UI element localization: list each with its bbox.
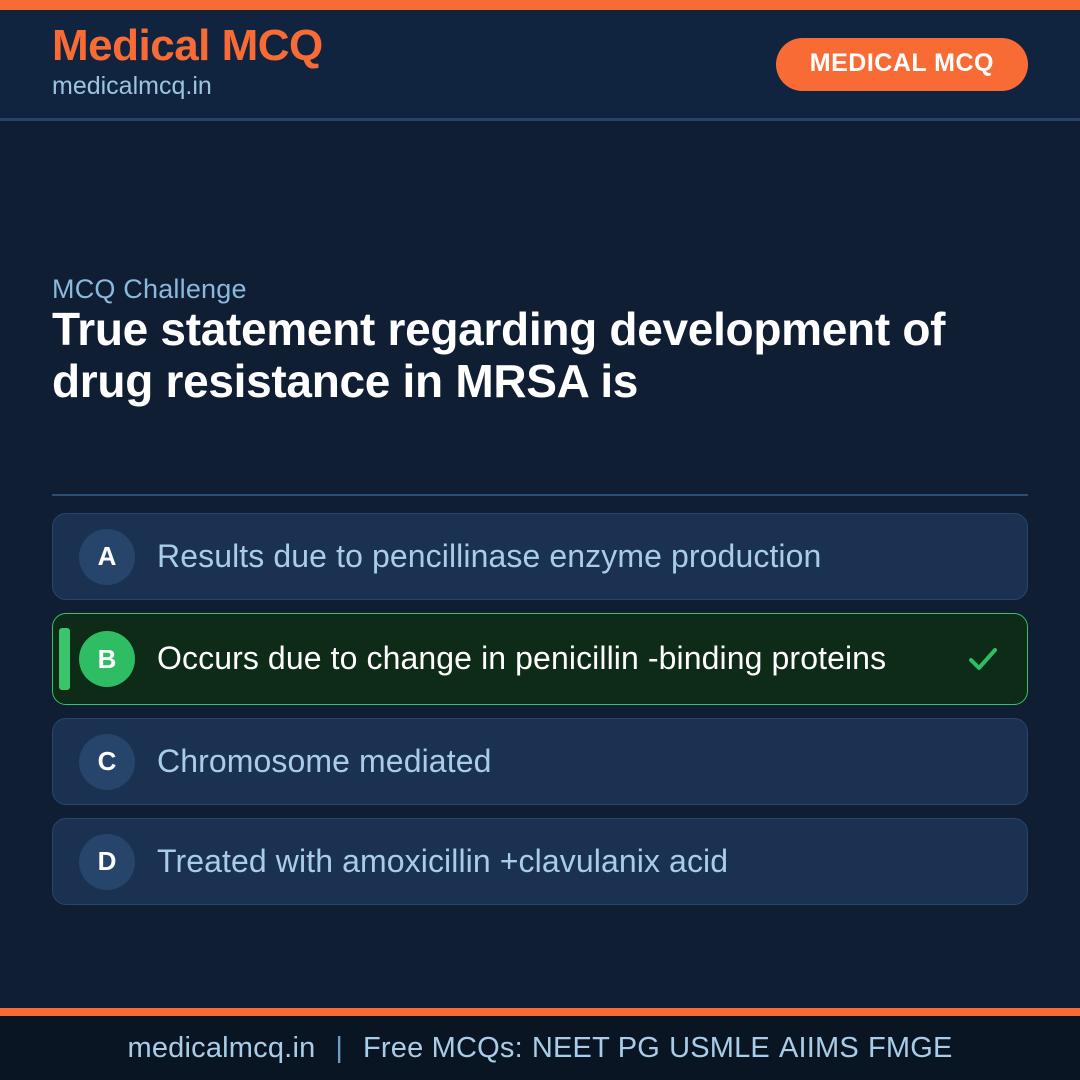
option-row-c[interactable]: C Chromosome mediated xyxy=(52,718,1028,805)
option-text: Treated with amoxicillin +clavulanix aci… xyxy=(157,843,728,880)
option-letter-badge: C xyxy=(79,734,135,790)
page-footer: medicalmcq.in | Free MCQs: NEET PG USMLE… xyxy=(0,1016,1080,1080)
footer-tag-usmle[interactable]: USMLE xyxy=(660,1032,770,1065)
footer-tag-neet-pg[interactable]: NEET PG xyxy=(523,1032,660,1065)
option-row-a[interactable]: A Results due to pencillinase enzyme pro… xyxy=(52,513,1028,600)
header-badge[interactable]: MEDICAL MCQ xyxy=(776,38,1028,91)
question-text: True statement regarding development of … xyxy=(52,304,992,408)
brand-subtitle: medicalmcq.in xyxy=(52,71,323,101)
option-row-d[interactable]: D Treated with amoxicillin +clavulanix a… xyxy=(52,818,1028,905)
main-content: MCQ Challenge True statement regarding d… xyxy=(0,121,1080,1008)
option-text: Results due to pencillinase enzyme produ… xyxy=(157,538,821,575)
option-letter-badge: D xyxy=(79,834,135,890)
footer-tag-aiims[interactable]: AIIMS xyxy=(770,1032,859,1065)
footer-tag-fmge[interactable]: FMGE xyxy=(859,1032,953,1065)
section-divider xyxy=(52,494,1028,496)
brand-title: Medical MCQ xyxy=(52,23,323,69)
option-letter-badge: A xyxy=(79,529,135,585)
option-text: Occurs due to change in penicillin -bind… xyxy=(157,640,886,677)
option-text: Chromosome mediated xyxy=(157,743,492,780)
footer-prefix: Free MCQs: xyxy=(363,1032,523,1065)
footer-accent-bar xyxy=(0,1008,1080,1016)
option-row-b[interactable]: B Occurs due to change in penicillin -bi… xyxy=(52,613,1028,705)
footer-site-link[interactable]: medicalmcq.in xyxy=(127,1032,315,1065)
option-letter-badge: B xyxy=(79,631,135,687)
footer-separator: | xyxy=(315,1032,363,1065)
top-accent-bar xyxy=(0,0,1080,10)
page-header: Medical MCQ medicalmcq.in MEDICAL MCQ xyxy=(0,10,1080,121)
correct-accent-bar xyxy=(59,628,70,690)
brand-block: Medical MCQ medicalmcq.in xyxy=(52,23,323,101)
check-icon xyxy=(965,641,1001,677)
eyebrow-label: MCQ Challenge xyxy=(52,274,247,305)
mcq-card-page: Medical MCQ medicalmcq.in MEDICAL MCQ MC… xyxy=(0,0,1080,1080)
options-list: A Results due to pencillinase enzyme pro… xyxy=(52,513,1028,918)
